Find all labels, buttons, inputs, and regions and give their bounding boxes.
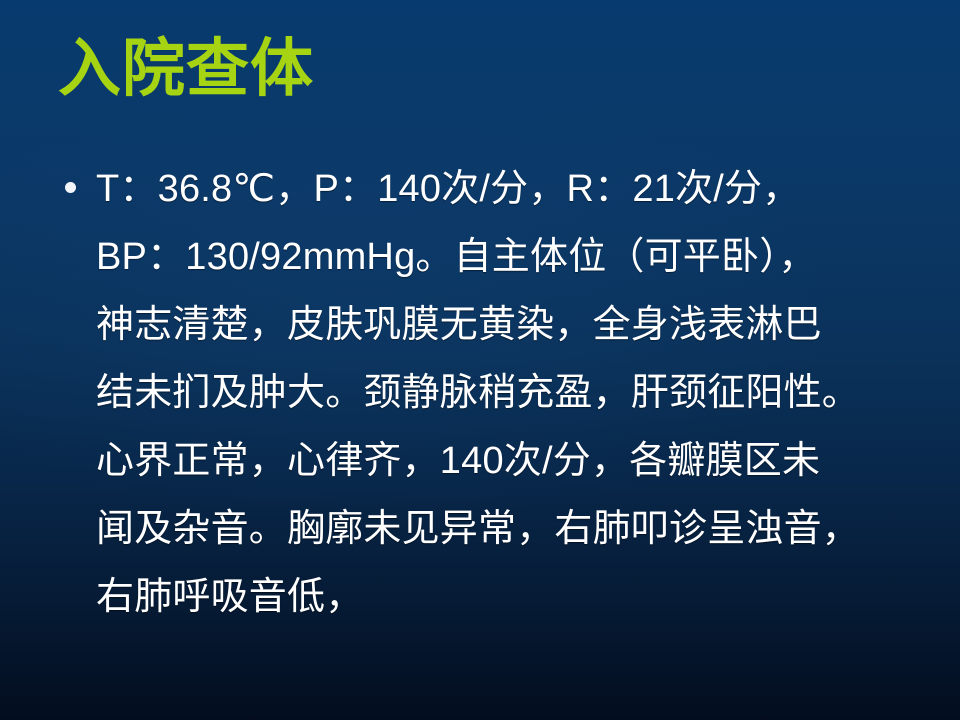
body-line: 结未扪及肿大。颈静脉稍充盈，肝颈征阳性。 xyxy=(96,359,936,427)
body-line: 心界正常，心律齐，140次/分，各瓣膜区未 xyxy=(96,427,936,495)
body-line: BP：130/92mmHg。自主体位（可平卧）， xyxy=(96,223,936,291)
bullet-dot-icon xyxy=(65,182,76,193)
body-content: T：36.8℃，P：140次/分，R：21次/分， BP：130/92mmHg。… xyxy=(56,155,936,631)
body-line: 神志清楚，皮肤巩膜无黄染，全身浅表淋巴 xyxy=(96,291,936,359)
body-line: 右肺呼吸音低， xyxy=(96,563,936,631)
body-line: 闻及杂音。胸廓未见异常，右肺叩诊呈浊音， xyxy=(96,495,936,563)
slide-canvas: 入院查体 T：36.8℃，P：140次/分，R：21次/分， BP：130/92… xyxy=(0,0,960,720)
body-line: T：36.8℃，P：140次/分，R：21次/分， xyxy=(96,155,936,223)
bullet-text: T：36.8℃，P：140次/分，R：21次/分， BP：130/92mmHg。… xyxy=(96,155,936,631)
page-title: 入院查体 xyxy=(58,38,314,101)
list-item: T：36.8℃，P：140次/分，R：21次/分， BP：130/92mmHg。… xyxy=(56,155,936,631)
